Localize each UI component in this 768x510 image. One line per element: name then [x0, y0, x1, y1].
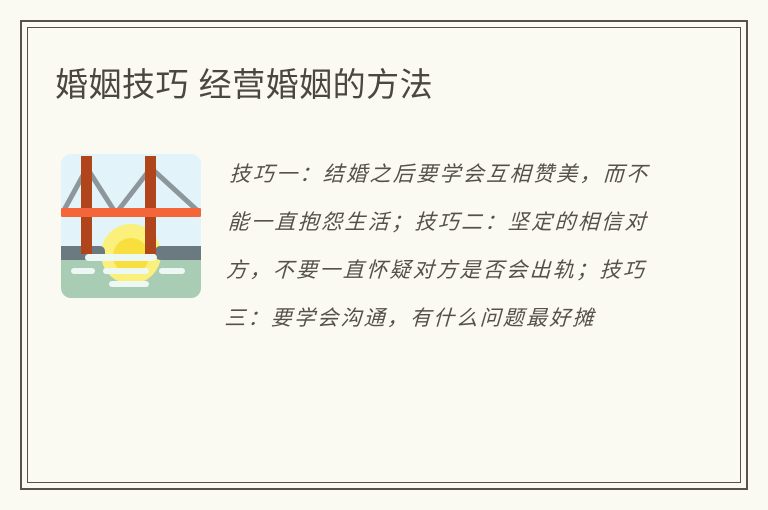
water-dash: [159, 268, 185, 274]
water-dash: [103, 268, 149, 274]
bridge-tower-left: [81, 156, 92, 254]
water-dash: [71, 268, 95, 274]
article-body-row: 技巧一：结婚之后要学会互相赞美，而不能一直抱怨生活；技巧二：坚定的相信对方，不要…: [55, 150, 715, 342]
card-content: 婚姻技巧 经营婚姻的方法: [0, 0, 768, 510]
page-title: 婚姻技巧 经营婚姻的方法: [55, 62, 715, 108]
water-highlight: [85, 254, 157, 261]
bridge-deck: [59, 208, 203, 217]
water-dash: [109, 281, 149, 287]
article-card: 婚姻技巧 经营婚姻的方法: [0, 0, 768, 510]
bridge-illustration-svg: [55, 150, 207, 302]
bridge-sunset-illustration: [55, 150, 207, 302]
bridge-tower-right: [145, 156, 156, 254]
article-body-text: 技巧一：结婚之后要学会互相赞美，而不能一直抱怨生活；技巧二：坚定的相信对方，不要…: [224, 150, 651, 342]
right-bank: [155, 246, 207, 260]
